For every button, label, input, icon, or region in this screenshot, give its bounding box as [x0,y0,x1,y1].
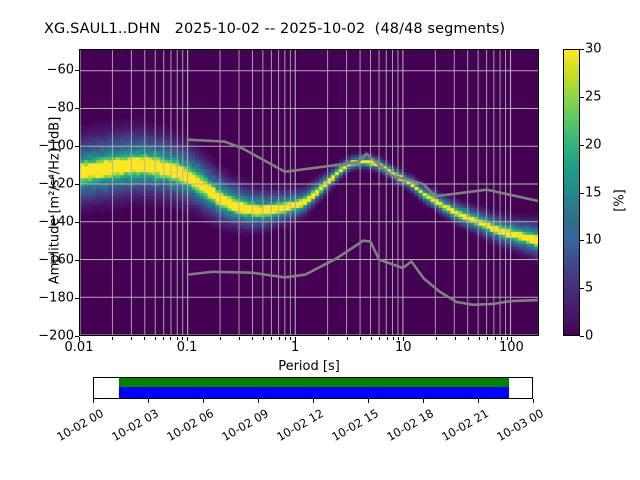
x-tick-minor [387,337,388,340]
x-tick-minor [468,337,469,340]
x-tick-label: 0.01 [65,340,94,355]
ppsd-plot-area[interactable] [79,49,539,336]
colorbar-tick-label: 10 [585,233,602,248]
x-axis-label: Period [s] [79,359,539,374]
x-tick-minor [252,337,253,340]
colorbar-tick-mark [580,145,584,146]
y-axis-label: Amplitude [m²/s⁴/Hz] [dB] [48,51,63,351]
x-tick-label: 100 [499,340,524,355]
timeline-tick-mark [313,399,314,403]
x-tick-minor [112,337,113,340]
x-tick-label: 10 [395,340,412,355]
x-tick-minor [495,337,496,340]
timeline-date-label: 10-02 06 [161,406,216,446]
timeline-date-label: 10-02 12 [271,406,326,446]
x-tick-minor [487,337,488,340]
y-tick-mark [75,222,79,223]
page-title: XG.SAUL1..DHN 2025-10-02 -- 2025-10-02 (… [44,21,604,37]
colorbar-tick-label: 15 [585,185,602,200]
y-tick-mark [75,146,79,147]
y-tick-mark [75,108,79,109]
x-tick-minor [279,337,280,340]
x-tick-minor [263,337,264,340]
colorbar-tick-label: 5 [585,281,593,296]
ppsd-figure: XG.SAUL1..DHN 2025-10-02 -- 2025-10-02 (… [0,0,640,480]
timeline-tick-mark [478,399,479,403]
x-tick-minor [220,337,221,340]
x-tick-minor [379,337,380,340]
timeline-tick-mark [93,399,94,403]
colorbar-unit-label: [%] [613,171,628,231]
colorbar-tick-mark [580,97,584,98]
x-tick-minor [360,337,361,340]
y-tick-mark [75,184,79,185]
x-tick-minor [371,337,372,340]
noise-model-curves [80,50,538,335]
timeline-used-bar [119,387,509,398]
colorbar-tick-label: 20 [585,137,602,152]
x-tick-minor [347,337,348,340]
colorbar-tick-mark [580,336,584,337]
timeline-tick-mark [148,399,149,403]
x-tick-label: 0.1 [177,340,198,355]
colorbar-tick-mark [580,240,584,241]
y-tick-mark [75,70,79,71]
colorbar[interactable] [563,49,580,336]
x-tick-minor [328,337,329,340]
x-tick-minor [131,337,132,340]
timeline-tick-mark [423,399,424,403]
timeline-date-label: 10-02 18 [381,406,436,446]
timeline-tick-mark [203,399,204,403]
x-tick-minor [155,337,156,340]
timeline-tick-mark [258,399,259,403]
y-tick-mark [75,298,79,299]
x-tick-minor [170,337,171,340]
timeline-available-bar [119,378,509,387]
colorbar-tick-mark [580,49,584,50]
x-tick-minor [479,337,480,340]
x-tick-minor [271,337,272,340]
timeline-tick-mark [368,399,369,403]
x-tick-minor [163,337,164,340]
y-tick-mark [75,260,79,261]
x-tick-minor [239,337,240,340]
x-tick-minor [436,337,437,340]
x-tick-minor [285,337,286,340]
timeline-coverage-bar[interactable] [93,377,533,399]
colorbar-tick-label: 25 [585,89,602,104]
timeline-tick-mark [533,399,534,403]
x-tick-minor [144,337,145,340]
x-tick-minor [393,337,394,340]
colorbar-tick-label: 30 [585,42,602,57]
timeline-date-label: 10-02 15 [326,406,381,446]
timeline-date-label: 10-02 03 [106,406,161,446]
timeline-date-label: 10-02 09 [216,406,271,446]
x-tick-label: 1 [291,340,299,355]
timeline-date-label: 10-03 00 [491,406,546,446]
colorbar-tick-mark [580,193,584,194]
x-tick-minor [455,337,456,340]
colorbar-tick-label: 0 [585,329,593,344]
timeline-date-label: 10-02 00 [51,406,106,446]
colorbar-tick-mark [580,288,584,289]
timeline-date-label: 10-02 21 [436,406,491,446]
